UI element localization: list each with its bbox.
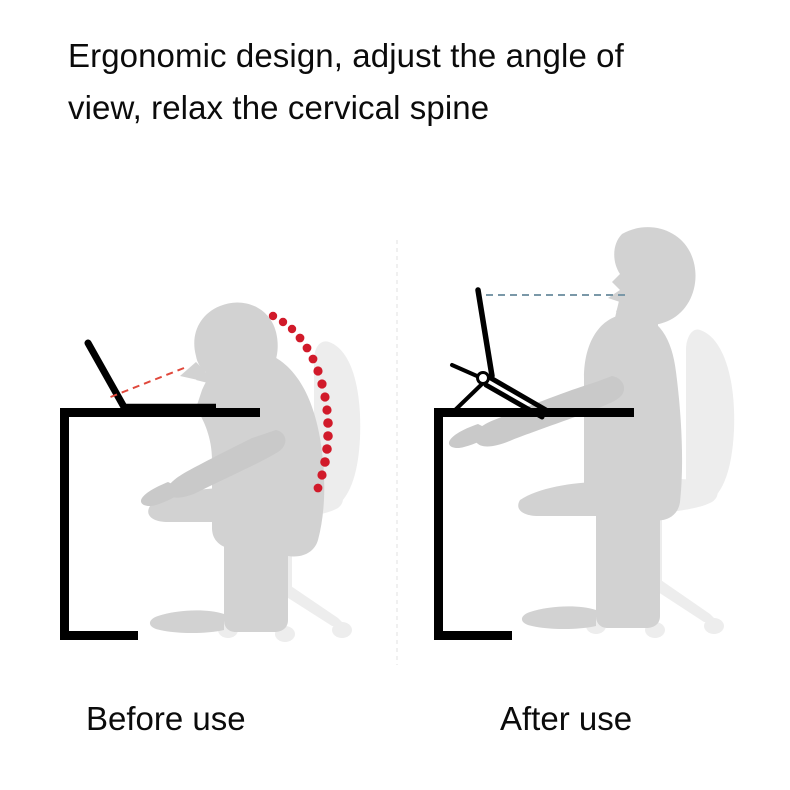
spine-dot (323, 418, 333, 428)
spine-dot (323, 431, 333, 441)
desk-foot (60, 631, 138, 640)
spine-dot (317, 379, 326, 388)
spine-dot (288, 325, 296, 333)
chair-caster (332, 622, 352, 638)
spine-dot (322, 405, 331, 414)
person-shoe (522, 606, 596, 629)
illustration-svg (0, 210, 790, 690)
chair-caster (704, 618, 724, 634)
person-silhouette-before (141, 302, 324, 633)
illustration-area (0, 210, 790, 690)
person-shoe (150, 610, 224, 633)
caption-after-use: After use (500, 694, 632, 744)
desk-side-panel (60, 408, 69, 640)
person-torso (584, 314, 682, 520)
desk-side-panel (434, 408, 443, 640)
stand-pivot-hinge (478, 373, 489, 384)
spine-dot (269, 312, 277, 320)
page-title: Ergonomic design, adjust the angle of vi… (68, 30, 758, 134)
spine-dot (313, 366, 322, 375)
spine-dot (317, 470, 326, 479)
spine-dot (309, 355, 318, 364)
laptop-stand-assembly (452, 290, 546, 417)
spine-dot (303, 344, 312, 353)
person-silhouette-after (449, 227, 696, 629)
spine-dot (296, 334, 305, 343)
sightline-before (108, 368, 184, 398)
caption-row: Before use After use (0, 694, 790, 764)
caption-before-use: Before use (86, 694, 246, 744)
spine-dot (320, 457, 330, 467)
panel-before-use (60, 302, 360, 642)
laptop-screen (478, 290, 492, 376)
spine-dot (279, 318, 287, 326)
infographic-page: Ergonomic design, adjust the angle of vi… (0, 0, 790, 790)
spine-dot (322, 444, 332, 454)
spine-dot (320, 392, 329, 401)
laptop-screen (88, 343, 124, 407)
desk-foot (434, 631, 512, 640)
person-head (608, 227, 696, 325)
spine-dot (314, 484, 323, 493)
panel-after-use (434, 227, 734, 640)
